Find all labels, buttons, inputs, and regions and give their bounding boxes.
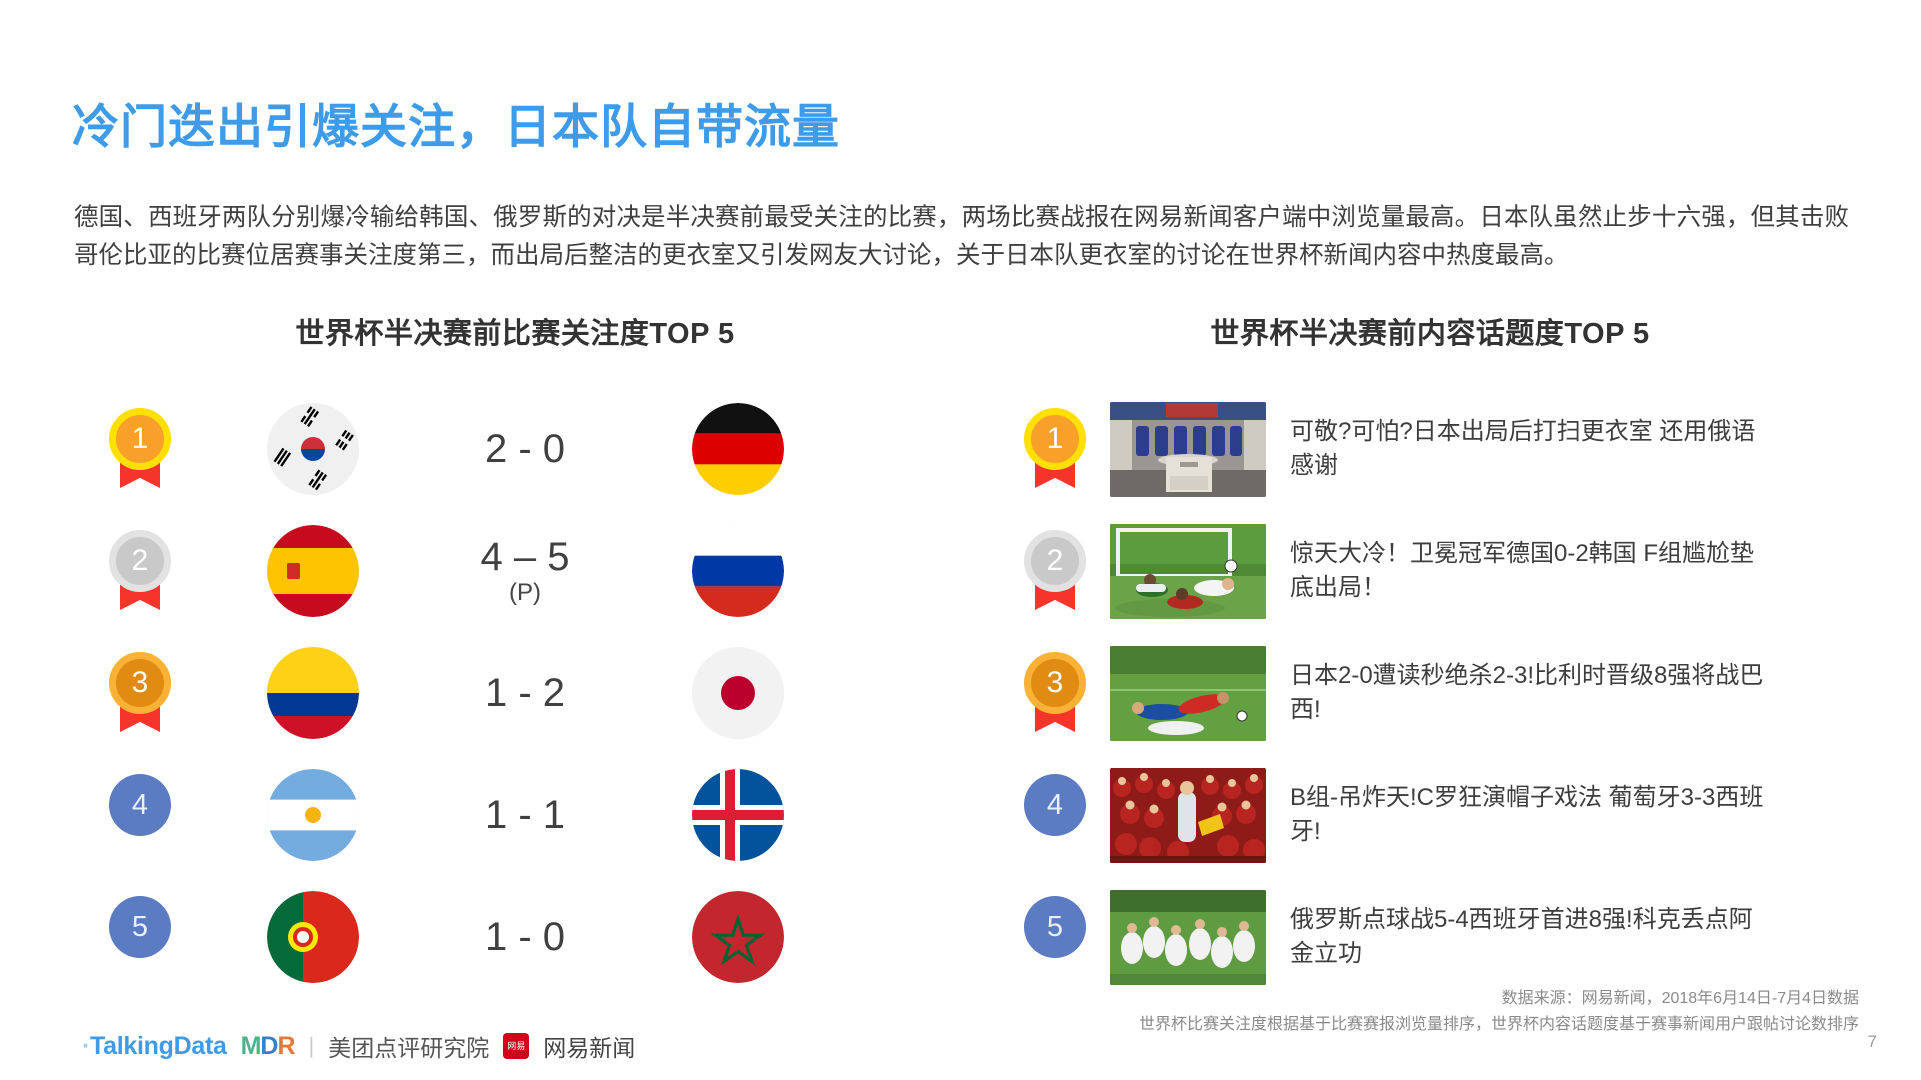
- away-flag-cell: [625, 647, 850, 739]
- score-text: 1 - 2: [485, 671, 565, 715]
- rank-badge-cell: 4: [1000, 774, 1110, 856]
- rank-medal-3: 3: [109, 652, 171, 734]
- rank-badge-cell: 2: [1000, 530, 1110, 612]
- rank-medal-5: 5: [109, 896, 171, 978]
- score-text: 4 – 5: [481, 535, 570, 579]
- news-thumbnail-japan-locker-room: [1110, 402, 1266, 497]
- home-flag-cell: [200, 647, 425, 739]
- table-row: 2 4 – 5 (P): [80, 510, 950, 632]
- home-flag-cell: [200, 525, 425, 617]
- meituan-research-logo: 美团点评研究院: [328, 1029, 489, 1063]
- rank-badge-cell: 5: [1000, 896, 1110, 978]
- content-topic-panel: 世界杯半决赛前内容话题度TOP 5 1: [1000, 310, 1860, 998]
- rank-badge-cell: 1: [1000, 408, 1110, 490]
- news-thumbnail-korea-goal: [1110, 524, 1266, 619]
- rank-number: 2: [109, 530, 171, 592]
- rank-badge-cell: 2: [80, 530, 200, 612]
- match-attention-panel: 世界杯半决赛前比赛关注度TOP 5 1: [80, 310, 950, 998]
- news-headline[interactable]: B组-吊炸天!C罗狂演帽子戏法 葡萄牙3-3西班牙!: [1290, 781, 1770, 849]
- rank-number: 3: [109, 652, 171, 714]
- match-score: 1 - 1: [425, 794, 625, 836]
- match-score: 1 - 2: [425, 672, 625, 714]
- page-number: 7: [1868, 1032, 1877, 1052]
- slide: 冷门迭出引爆关注，日本队自带流量 德国、西班牙两队分别爆冷输给韩国、俄罗斯的对决…: [0, 0, 1921, 1080]
- rank-medal-1: 1: [109, 408, 171, 490]
- rank-medal-5: 5: [1024, 896, 1086, 978]
- lede-paragraph: 德国、西班牙两队分别爆冷输给韩国、俄罗斯的对决是半决赛前最受关注的比赛，两场比赛…: [74, 199, 1849, 275]
- flag-spain-icon: [267, 525, 359, 617]
- score-text: 2 - 0: [485, 427, 565, 471]
- list-item[interactable]: 3 日本2-0遭读秒绝杀2-3!比利时: [1000, 632, 1860, 754]
- list-item[interactable]: 2: [1000, 510, 1860, 632]
- table-row: 4 1 - 1: [80, 754, 950, 876]
- home-flag-cell: [200, 891, 425, 983]
- left-panel-title: 世界杯半决赛前比赛关注度TOP 5: [80, 310, 950, 352]
- penalty-note: (P): [425, 580, 625, 605]
- rank-badge-cell: 3: [80, 652, 200, 734]
- flag-colombia-icon: [267, 647, 359, 739]
- away-flag-cell: [625, 769, 850, 861]
- rank-medal-4: 4: [1024, 774, 1086, 856]
- list-item[interactable]: 4: [1000, 754, 1860, 876]
- away-flag-cell: [625, 525, 850, 617]
- flag-argentina-icon: [267, 769, 359, 861]
- talkingdata-logo: ·TalkingData: [82, 1032, 227, 1061]
- rank-number: 1: [1024, 408, 1086, 470]
- data-source-line: 数据来源：网易新闻，2018年6月14日-7月4日数据: [1139, 986, 1859, 1012]
- right-panel-title: 世界杯半决赛前内容话题度TOP 5: [1000, 310, 1860, 352]
- news-headline[interactable]: 可敬?可怕?日本出局后打扫更衣室 还用俄语感谢: [1290, 415, 1770, 483]
- flag-portugal-icon: [267, 891, 359, 983]
- rank-badge-cell: 3: [1000, 652, 1110, 734]
- rank-badge-cell: 1: [80, 408, 200, 490]
- table-row: 1: [80, 388, 950, 510]
- news-headline[interactable]: 日本2-0遭读秒绝杀2-3!比利时晋级8强将战巴西!: [1290, 659, 1770, 727]
- score-text: 1 - 0: [485, 915, 565, 959]
- news-headline[interactable]: 惊天大冷！卫冕冠军德国0-2韩国 F组尴尬垫底出局！: [1290, 537, 1770, 605]
- flag-germany-icon: [692, 403, 784, 495]
- home-flag-cell: [200, 769, 425, 861]
- netease-news-logo: 网易新闻: [543, 1029, 635, 1063]
- rank-medal-2: 2: [1024, 530, 1086, 612]
- score-text: 1 - 1: [485, 793, 565, 837]
- flag-morocco-icon: [692, 891, 784, 983]
- rank-number: 3: [1024, 652, 1086, 714]
- table-row: 5 1 - 0: [80, 876, 950, 998]
- rank-medal-4: 4: [109, 774, 171, 856]
- home-flag-cell: [200, 403, 425, 495]
- rank-medal-2: 2: [109, 530, 171, 612]
- rank-number: 1: [109, 408, 171, 470]
- flag-japan-icon: [692, 647, 784, 739]
- footnote: 数据来源：网易新闻，2018年6月14日-7月4日数据 世界杯比赛关注度根据基于…: [1139, 986, 1859, 1038]
- rank-number: 5: [109, 896, 171, 958]
- news-headline[interactable]: 俄罗斯点球战5-4西班牙首进8强!科克丢点阿金立功: [1290, 903, 1770, 971]
- rank-badge-cell: 5: [80, 896, 200, 978]
- methodology-line: 世界杯比赛关注度根据基于比赛赛报浏览量排序，世界杯内容话题度基于赛事新闻用户跟帖…: [1139, 1012, 1859, 1038]
- rank-number: 4: [1024, 774, 1086, 836]
- away-flag-cell: [625, 891, 850, 983]
- rank-number: 4: [109, 774, 171, 836]
- netease-badge-icon: 网易: [503, 1033, 529, 1059]
- flag-iceland-icon: [692, 769, 784, 861]
- match-score: 1 - 0: [425, 916, 625, 958]
- logo-bar: ·TalkingData MDR | 美团点评研究院 网易 网易新闻: [82, 1029, 635, 1063]
- rank-badge-cell: 4: [80, 774, 200, 856]
- table-row: 3 1 - 2: [80, 632, 950, 754]
- rank-number: 5: [1024, 896, 1086, 958]
- flag-russia-icon: [692, 525, 784, 617]
- away-flag-cell: [625, 403, 850, 495]
- logo-divider: |: [309, 1033, 315, 1059]
- news-thumbnail-belgium-japan: [1110, 646, 1266, 741]
- flag-south-korea-icon: [267, 403, 359, 495]
- rank-medal-3: 3: [1024, 652, 1086, 734]
- rank-medal-1: 1: [1024, 408, 1086, 490]
- rank-number: 2: [1024, 530, 1086, 592]
- match-score: 2 - 0: [425, 428, 625, 470]
- list-item[interactable]: 5: [1000, 876, 1860, 998]
- match-score: 4 – 5 (P): [425, 536, 625, 605]
- news-thumbnail-russia-celebration: [1110, 890, 1266, 985]
- list-item[interactable]: 1: [1000, 388, 1860, 510]
- news-thumbnail-portugal-fans: [1110, 768, 1266, 863]
- mdr-logo: MDR: [241, 1032, 295, 1061]
- page-title: 冷门迭出引爆关注，日本队自带流量: [72, 88, 840, 157]
